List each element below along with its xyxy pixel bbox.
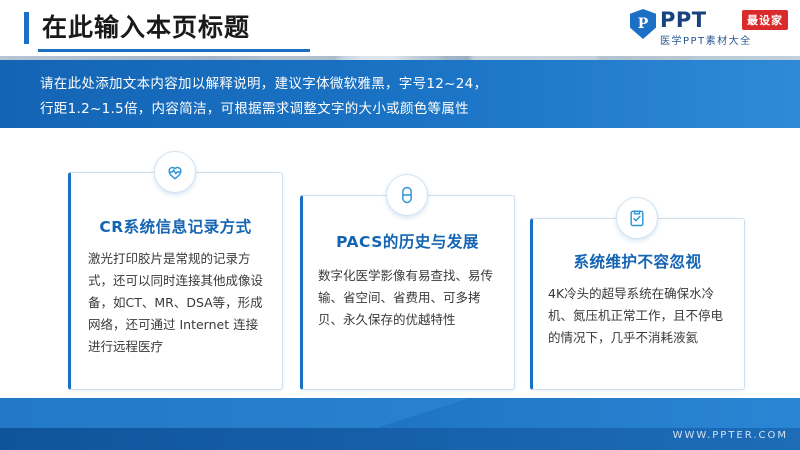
title-accent-bar (24, 12, 29, 44)
page-title: 在此输入本页标题 (42, 12, 250, 44)
card-3-body: 4K冷头的超导系统在确保水冷机、氮压机正常工作，且不停电的情况下，几乎不消耗液氦 (548, 283, 723, 349)
logo-subtitle: 医学PPT素材大全 (660, 32, 752, 47)
heart-monitor-icon (154, 151, 196, 193)
logo-tag: 最设家 (742, 10, 788, 30)
title-underline (38, 49, 310, 52)
description-line-2: 行距1.2~1.5倍，内容简洁，可根据需求调整文字的大小或颜色等属性 (40, 97, 760, 122)
brand-logo: P PPT 最设家 医学PPT素材大全 (630, 6, 790, 50)
description-text: 请在此处添加文本内容加以解释说明，建议字体微软雅黑，字号12~24， 行距1.2… (40, 72, 760, 122)
card-1-title: CR系统信息记录方式 (68, 215, 283, 237)
logo-mark-letter: P (638, 16, 649, 32)
card-1-body: 激光打印胶片是常规的记录方式，还可以同时连接其他成像设备，如CT、MR、DSA等… (88, 248, 263, 358)
footer-watermark: WWW.PPTER.COM (673, 430, 788, 441)
card-2-title: PACS的历史与发展 (300, 230, 515, 252)
description-banner: 请在此处添加文本内容加以解释说明，建议字体微软雅黑，字号12~24， 行距1.2… (0, 60, 800, 128)
card-2-body: 数字化医学影像有易查找、易传输、省空间、省费用、可多拷贝、永久保存的优越特性 (318, 265, 493, 331)
description-line-1: 请在此处添加文本内容加以解释说明，建议字体微软雅黑，字号12~24， (40, 72, 760, 97)
title-bar: 在此输入本页标题 P PPT 最设家 医学PPT素材大全 (0, 0, 800, 56)
capsule-pill-icon (386, 174, 428, 216)
clipboard-check-icon (616, 197, 658, 239)
logo-name: PPT (660, 8, 707, 32)
card-3-title: 系统维护不容忽视 (530, 250, 745, 272)
shield-icon: P (630, 9, 656, 39)
